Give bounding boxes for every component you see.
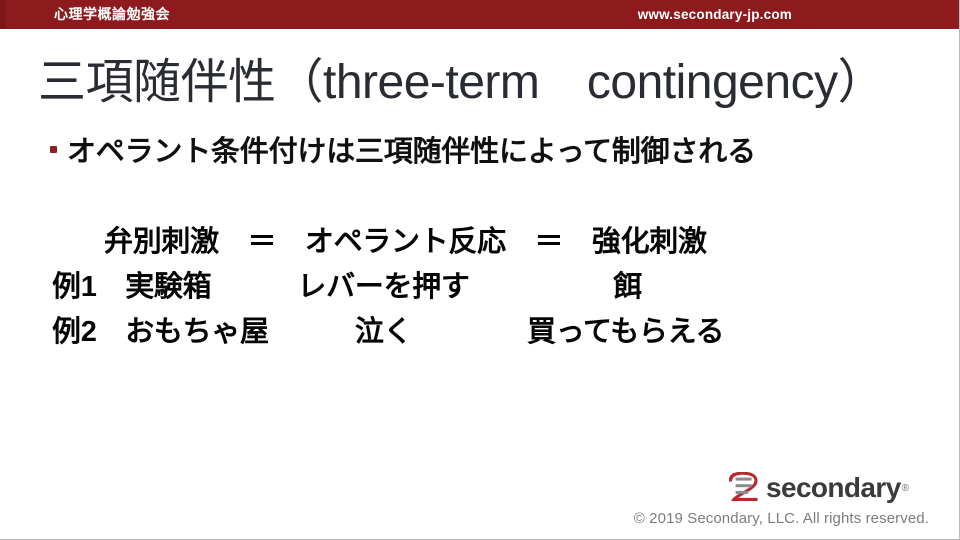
- bullet-line-text: オペラント条件付けは三項随伴性によって制御される: [67, 128, 756, 170]
- contingency-table: 弁別刺激 ＝ オペラント反応 ＝ 強化刺激 例1 実験箱 レバーを押す 餌 例2…: [0, 220, 960, 355]
- page-title: 三項随伴性（three-term contingency）: [38, 42, 885, 112]
- table-row: 例2 おもちゃ屋 泣く 買ってもらえる: [0, 310, 960, 355]
- registered-trademark-icon: ®: [902, 483, 909, 494]
- slide: 心理学概論勉強会 www.secondary-jp.com 三項随伴性（thre…: [0, 0, 960, 540]
- header-band: 心理学概論勉強会 www.secondary-jp.com: [0, 0, 960, 29]
- logo-wordmark: secondary: [766, 474, 901, 502]
- square-bullet-icon: [50, 146, 57, 153]
- secondary-logo: secondary ®: [726, 470, 909, 506]
- table-row: 弁別刺激 ＝ オペラント反応 ＝ 強化刺激: [0, 220, 960, 265]
- secondary-books-logo-icon: [726, 472, 760, 504]
- header-study-group-title: 心理学概論勉強会: [54, 0, 170, 29]
- bullet-line: オペラント条件付けは三項随伴性によって制御される: [50, 128, 756, 170]
- table-row: 例1 実験箱 レバーを押す 餌: [0, 265, 960, 310]
- header-website-url: www.secondary-jp.com: [638, 0, 792, 29]
- copyright-text: © 2019 Secondary, LLC. All rights reserv…: [634, 510, 929, 527]
